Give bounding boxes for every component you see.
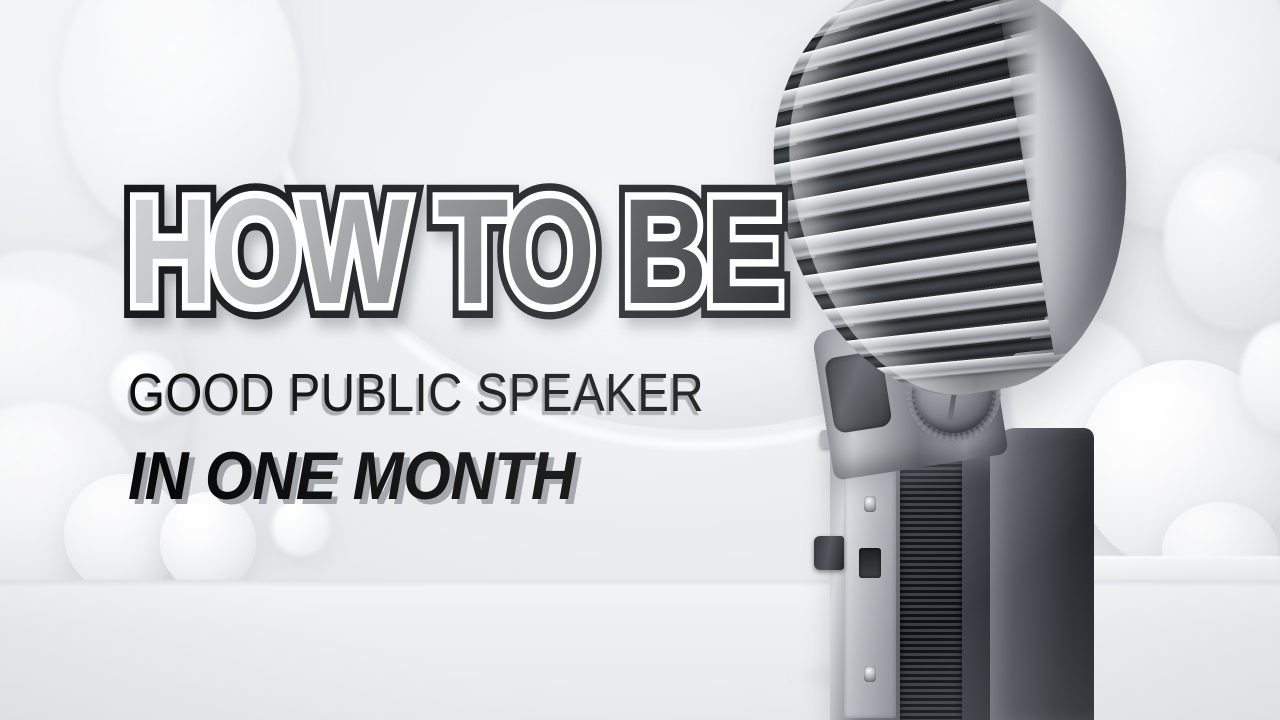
headline-face: HOW TO BE <box>128 158 781 344</box>
microphone-head <box>747 0 1158 419</box>
headline-row: HOW TO BE HOW TO BE HOW TO BE <box>128 158 728 358</box>
stand-screw <box>864 666 876 682</box>
stand-lock-lever <box>814 536 844 570</box>
microphone-head-shell <box>747 0 1158 419</box>
subtitle-line: GOOD PUBLIC SPEAKER <box>128 366 656 420</box>
timeframe-line: IN ONE MONTH <box>128 442 668 510</box>
title-block: HOW TO BE HOW TO BE HOW TO BE GOOD PUBLI… <box>128 158 728 510</box>
microphone-stand-grip <box>900 458 962 720</box>
stand-screw <box>864 496 876 512</box>
microphone-stand-body <box>990 428 1094 720</box>
microphone-stand <box>830 444 1008 720</box>
microphone-stand-plate <box>844 466 896 718</box>
stand-slot <box>859 548 881 578</box>
vintage-microphone <box>726 0 1196 720</box>
thumbnail-canvas: HOW TO BE HOW TO BE HOW TO BE GOOD PUBLI… <box>0 0 1280 720</box>
